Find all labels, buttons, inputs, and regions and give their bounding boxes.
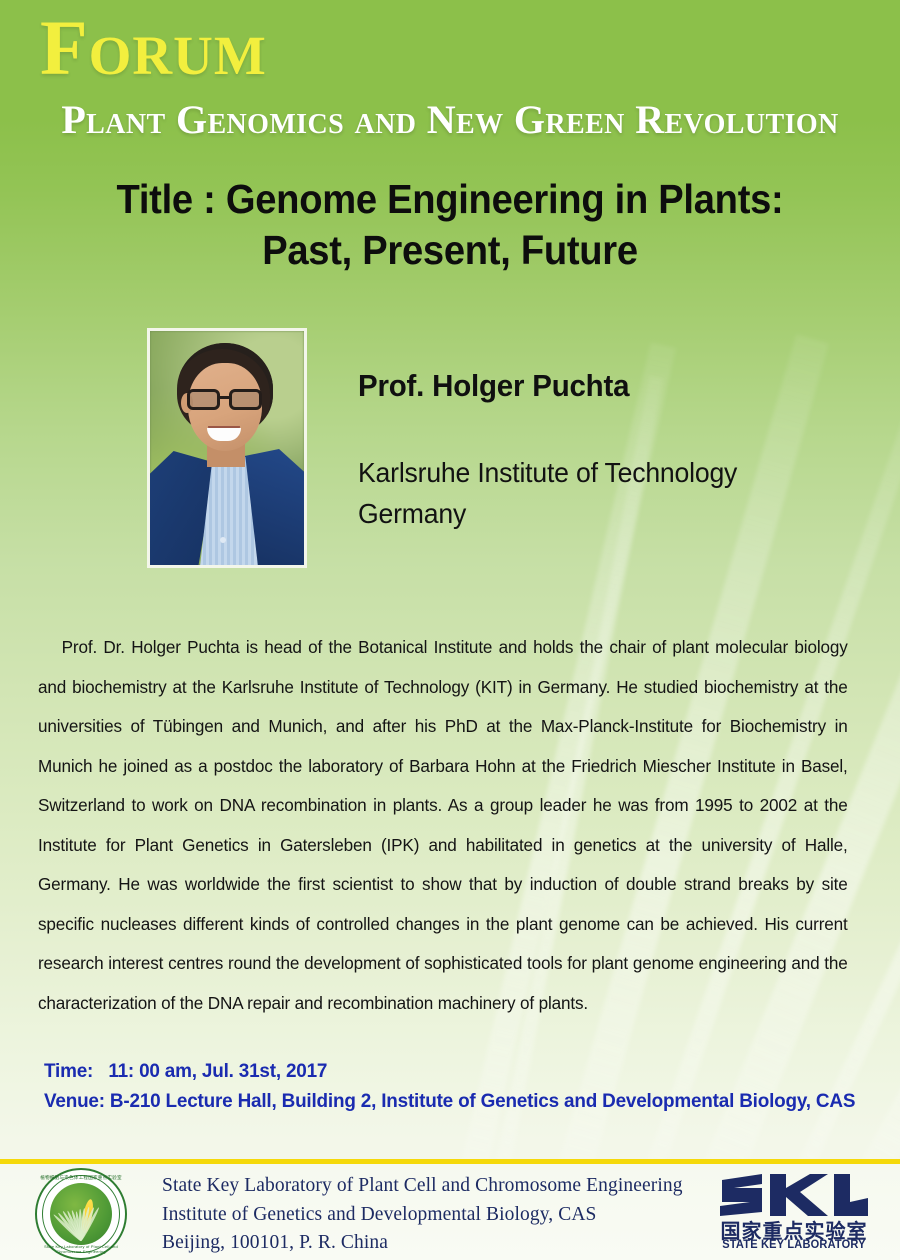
- time-label: Time:: [44, 1060, 93, 1082]
- footer-line-1: State Key Laboratory of Plant Cell and C…: [162, 1172, 683, 1201]
- speaker-biography: Prof. Dr. Holger Puchta is head of the B…: [38, 628, 848, 1023]
- venue-value: B-210 Lecture Hall, Building 2, Institut…: [110, 1090, 855, 1112]
- speaker-section: Prof. Holger Puchta Karlsruhe Institute …: [0, 328, 900, 573]
- poster-header: Forum Plant Genomics and New Green Revol…: [0, 0, 900, 160]
- event-details: Time: 11: 00 am, Jul. 31st, 2017 Venue: …: [44, 1056, 859, 1116]
- laboratory-crest-logo: 植物细胞与染色体工程国家重点实验室 State Key Laboratory o…: [35, 1168, 127, 1260]
- talk-title-line-1: Title : Genome Engineering in Plants:: [32, 174, 869, 225]
- venue-label: Venue:: [44, 1090, 105, 1112]
- crest-chinese-text: 植物细胞与染色体工程国家重点实验室: [35, 1175, 127, 1181]
- footer-line-3: Beijing, 100101, P. R. China: [162, 1229, 683, 1258]
- event-venue-row: Venue: B-210 Lecture Hall, Building 2, I…: [44, 1086, 859, 1116]
- talk-title: Title : Genome Engineering in Plants: Pa…: [32, 174, 869, 276]
- footer-address: State Key Laboratory of Plant Cell and C…: [162, 1172, 683, 1258]
- glasses-icon: [184, 389, 266, 410]
- shirt-button: [220, 537, 226, 543]
- footer-line-2: Institute of Genetics and Developmental …: [162, 1201, 683, 1230]
- speaker-photo: [147, 328, 307, 568]
- talk-title-line-2: Past, Present, Future: [32, 225, 869, 276]
- series-title: Plant Genomics and New Green Revolution: [0, 98, 900, 142]
- light-ray: [872, 480, 900, 1260]
- skl-logo: 国家重点实验室 STATE KEY LABORATORY: [718, 1171, 870, 1257]
- time-value: 11: 00 am, Jul. 31st, 2017: [108, 1060, 327, 1082]
- seminar-poster: Forum Plant Genomics and New Green Revol…: [0, 0, 900, 1260]
- event-time-row: Time: 11: 00 am, Jul. 31st, 2017: [44, 1056, 859, 1086]
- poster-footer: 植物细胞与染色体工程国家重点实验室 State Key Laboratory o…: [0, 1164, 900, 1260]
- speaker-name: Prof. Holger Puchta: [358, 368, 629, 404]
- affiliation-line-2: Germany: [358, 493, 737, 534]
- affiliation-line-1: Karlsruhe Institute of Technology: [358, 452, 737, 493]
- skl-english-label: STATE KEY LABORATORY: [721, 1239, 867, 1251]
- crest-english-text: State Key Laboratory of Plant Cell and C…: [35, 1244, 127, 1254]
- biography-text: Prof. Dr. Holger Puchta is head of the B…: [38, 637, 848, 1013]
- forum-wordmark: Forum: [40, 6, 267, 90]
- speaker-affiliation: Karlsruhe Institute of Technology German…: [358, 452, 737, 534]
- lens-right: [229, 389, 262, 410]
- crest-disc: [50, 1183, 112, 1245]
- lens-left: [187, 389, 220, 410]
- skl-wordmark-icon: [718, 1171, 870, 1217]
